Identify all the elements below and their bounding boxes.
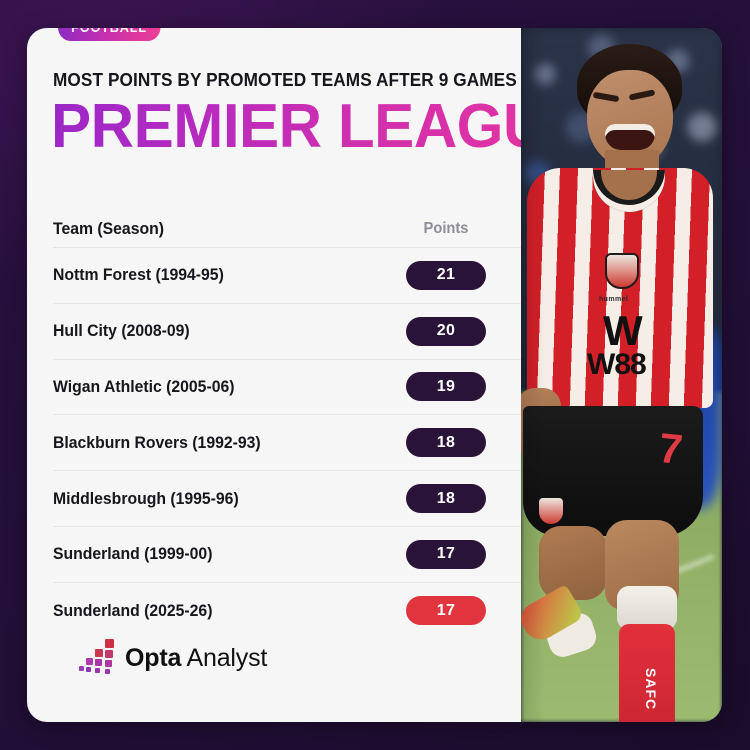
photo-sponsor-mark: W <box>603 310 643 352</box>
content-panel: MOST POINTS BY PROMOTED TEAMS AFTER 9 GA… <box>27 28 521 722</box>
page-title: PREMIER LEAGUE <box>51 96 586 158</box>
table-row: Sunderland (1999-00) 17 <box>53 527 521 583</box>
points-cell: 17 <box>371 540 521 569</box>
table-header-row: Team (Season) Points <box>53 210 521 248</box>
player-photo: hummel W W88 7 SAFC <box>521 28 722 722</box>
logo-analyst: Analyst <box>187 644 268 672</box>
points-cell: 20 <box>371 317 521 346</box>
points-cell: 21 <box>371 261 521 290</box>
opta-staircase-icon <box>79 638 115 672</box>
team-name: Sunderland (1999-00) <box>53 544 355 564</box>
infographic-card: FOOTBALL MOST POINTS BY PROMOTED TEAMS A… <box>27 28 722 722</box>
table-row: Nottm Forest (1994-95) 21 <box>53 248 521 304</box>
table-row: Wigan Athletic (2005-06) 19 <box>53 360 521 416</box>
photo-shirt-brand: hummel <box>599 296 628 303</box>
kicker-title: MOST POINTS BY PROMOTED TEAMS AFTER 9 GA… <box>53 69 517 91</box>
table-row: Blackburn Rovers (1992-93) 18 <box>53 415 521 471</box>
points-badge: 21 <box>406 261 486 290</box>
points-cell: 17 <box>371 596 521 625</box>
photo-sponsor-text: W88 <box>587 350 646 380</box>
team-name: Nottm Forest (1994-95) <box>53 265 355 285</box>
points-badge: 18 <box>406 428 486 457</box>
column-header-team: Team (Season) <box>53 219 355 239</box>
points-cell: 18 <box>371 484 521 513</box>
team-name: Middlesbrough (1995-96) <box>53 489 355 509</box>
photo-club-crest <box>605 253 639 289</box>
points-cell: 18 <box>371 428 521 457</box>
points-badge: 19 <box>406 372 486 401</box>
opta-analyst-logo: Opta Analyst <box>79 638 267 672</box>
photo-player-leg-back <box>539 526 607 600</box>
table-row: Middlesbrough (1995-96) 18 <box>53 471 521 527</box>
points-badge: 20 <box>406 317 486 346</box>
points-badge: 17 <box>406 540 486 569</box>
points-badge: 18 <box>406 484 486 513</box>
team-name: Hull City (2008-09) <box>53 321 355 341</box>
category-badge: FOOTBALL <box>58 28 160 41</box>
stats-table: Team (Season) Points Nottm Forest (1994-… <box>53 210 521 639</box>
logo-wordmark: Opta Analyst <box>125 646 267 672</box>
team-name: Blackburn Rovers (1992-93) <box>53 433 355 453</box>
photo-shorts-crest <box>539 498 563 524</box>
logo-opta: Opta <box>125 644 181 672</box>
team-name: Wigan Athletic (2005-06) <box>53 377 355 397</box>
team-name: Sunderland (2025-26) <box>53 601 355 621</box>
points-badge-highlight: 17 <box>406 596 486 625</box>
photo-sock-text: SAFC <box>643 668 659 710</box>
table-row: Sunderland (2025-26) 17 <box>53 583 521 639</box>
photo-shorts-number: 7 <box>657 427 685 471</box>
column-header-points: Points <box>375 220 518 238</box>
photo-player-mouth <box>605 124 655 150</box>
points-cell: 19 <box>371 372 521 401</box>
table-row: Hull City (2008-09) 20 <box>53 304 521 360</box>
